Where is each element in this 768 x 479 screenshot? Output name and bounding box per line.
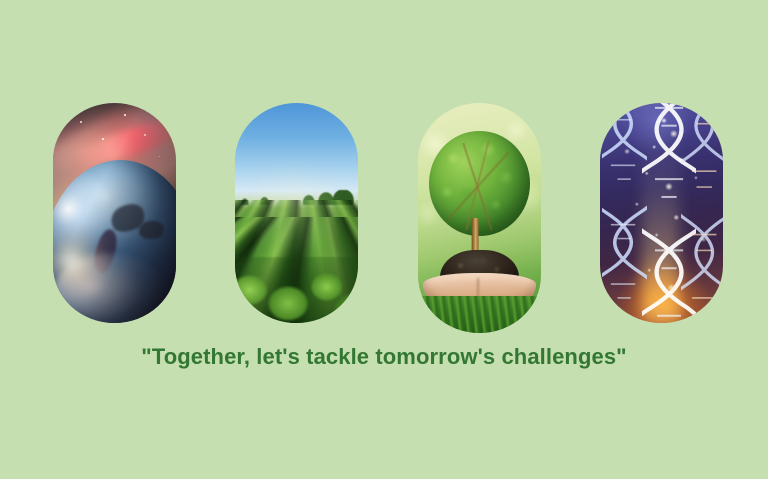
grass-foreground bbox=[418, 296, 541, 333]
caption-text: "Together, let's tackle tomorrow's chall… bbox=[0, 344, 768, 370]
genetics-artwork bbox=[600, 103, 723, 323]
sunlight-sheen bbox=[235, 103, 358, 323]
space-artwork bbox=[53, 103, 176, 323]
image-panel-earth-from-space bbox=[53, 103, 176, 323]
environment-artwork bbox=[418, 103, 541, 333]
banner-root: "Together, let's tackle tomorrow's chall… bbox=[0, 0, 768, 479]
image-panel-tree-globe-in-hands bbox=[418, 103, 541, 333]
image-panel-dna-helix bbox=[600, 103, 723, 323]
agriculture-artwork bbox=[235, 103, 358, 323]
image-panel-crop-field bbox=[235, 103, 358, 323]
tree-branches bbox=[435, 140, 524, 232]
glowing-particles bbox=[600, 103, 723, 323]
panel-strip bbox=[53, 103, 723, 335]
